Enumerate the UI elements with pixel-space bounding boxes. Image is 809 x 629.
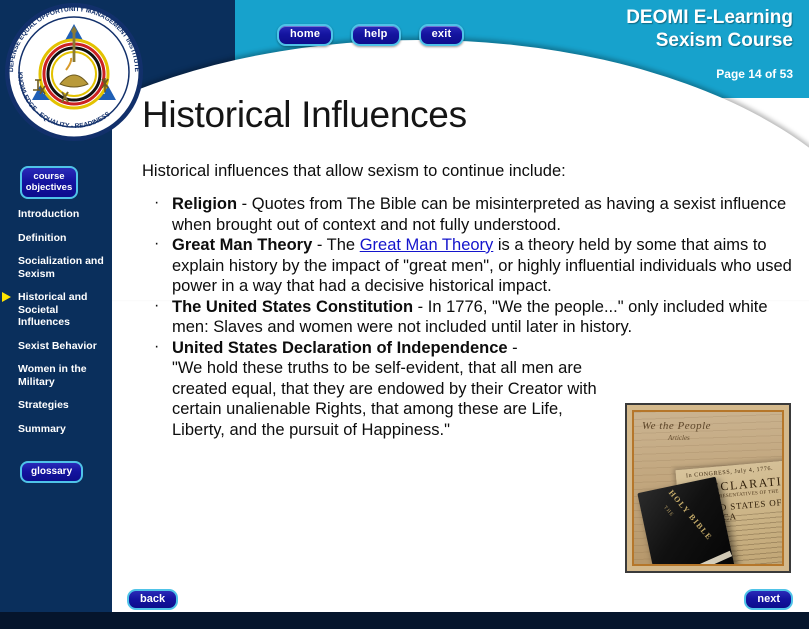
photo-inner-frame: We the People Articles In CONGRESS, July… xyxy=(632,410,784,566)
sidebar-item-definition[interactable]: Definition xyxy=(14,232,112,245)
page-indicator: Page 14 of 53 xyxy=(716,67,793,81)
bullet-marker-icon: · xyxy=(154,337,159,358)
glossary-button[interactable]: glossary xyxy=(20,461,83,483)
active-arrow-icon xyxy=(2,292,11,302)
bullet-dash: - xyxy=(312,236,326,254)
list-item: · The United States Constitution - In 17… xyxy=(150,297,800,338)
constitution-sub-text: Articles xyxy=(668,434,690,442)
sidebar-item-women-in-the-military[interactable]: Women in the Military xyxy=(14,363,112,388)
course-title-line1: DEOMI E-Learning xyxy=(626,6,793,29)
back-button[interactable]: back xyxy=(127,589,178,610)
intro-paragraph: Historical influences that allow sexism … xyxy=(142,161,742,181)
sidebar-item-historical-and-societal-influences[interactable]: Historical and Societal Influences xyxy=(14,291,112,329)
header-button-group: home help exit xyxy=(277,24,464,46)
bullet-marker-icon: · xyxy=(154,234,159,255)
list-item: · Religion - Quotes from The Bible can b… xyxy=(150,194,800,235)
bullet-marker-icon: · xyxy=(154,193,159,214)
deomi-seal-icon: DEFENSE EQUAL OPPORTUNITY MANAGEMENT INS… xyxy=(4,2,144,142)
next-button[interactable]: next xyxy=(744,589,793,610)
bullet-body-before-link: The xyxy=(327,236,360,254)
bible-line1: THE xyxy=(662,505,674,518)
bible-page-edge xyxy=(653,551,732,566)
bullet-term: Religion xyxy=(172,195,237,213)
course-page: DEFENSE EQUAL OPPORTUNITY MANAGEMENT INS… xyxy=(0,0,809,629)
course-title: DEOMI E-Learning Sexism Course xyxy=(626,6,793,52)
home-button[interactable]: home xyxy=(277,24,333,46)
bullet-term: Great Man Theory xyxy=(172,236,312,254)
constitution-heading-text: We the People xyxy=(642,420,711,432)
course-objectives-button[interactable]: course objectives xyxy=(20,166,78,199)
constitution-declaration-bible-photo: We the People Articles In CONGRESS, July… xyxy=(625,403,791,573)
sidebar-item-socialization-and-sexism[interactable]: Socialization and Sexism xyxy=(14,255,112,280)
bullet-body: Quotes from The Bible can be misinterpre… xyxy=(172,195,786,234)
bullet-marker-icon: · xyxy=(154,296,159,317)
sidebar-item-sexist-behavior[interactable]: Sexist Behavior xyxy=(14,340,112,353)
sidebar-item-label: Historical and Societal Influences xyxy=(18,291,87,328)
course-objectives-line1: course xyxy=(24,171,74,182)
course-objectives-line2: objectives xyxy=(24,182,74,193)
sidebar-nav: Introduction Definition Socialization an… xyxy=(14,208,112,446)
bullet-term: United States Declaration of Independenc… xyxy=(172,339,508,357)
sidebar-item-strategies[interactable]: Strategies xyxy=(14,399,112,412)
list-item: · United States Declaration of Independe… xyxy=(150,338,620,441)
course-title-line2: Sexism Course xyxy=(626,29,793,52)
great-man-theory-link[interactable]: Great Man Theory xyxy=(360,236,494,254)
bullet-term: The United States Constitution xyxy=(172,298,413,316)
sidebar-item-summary[interactable]: Summary xyxy=(14,423,112,436)
exit-button[interactable]: exit xyxy=(419,24,465,46)
bullet-dash: - xyxy=(413,298,428,316)
bullet-dash: - xyxy=(237,195,252,213)
footer-strip xyxy=(0,612,809,629)
bullet-dash: - xyxy=(508,339,518,357)
page-title: Historical Influences xyxy=(142,94,467,136)
sidebar-item-introduction[interactable]: Introduction xyxy=(14,208,112,221)
bullet-body: "We hold these truths to be self-evident… xyxy=(172,359,597,439)
list-item: · Great Man Theory - The Great Man Theor… xyxy=(150,235,800,297)
help-button[interactable]: help xyxy=(351,24,400,46)
